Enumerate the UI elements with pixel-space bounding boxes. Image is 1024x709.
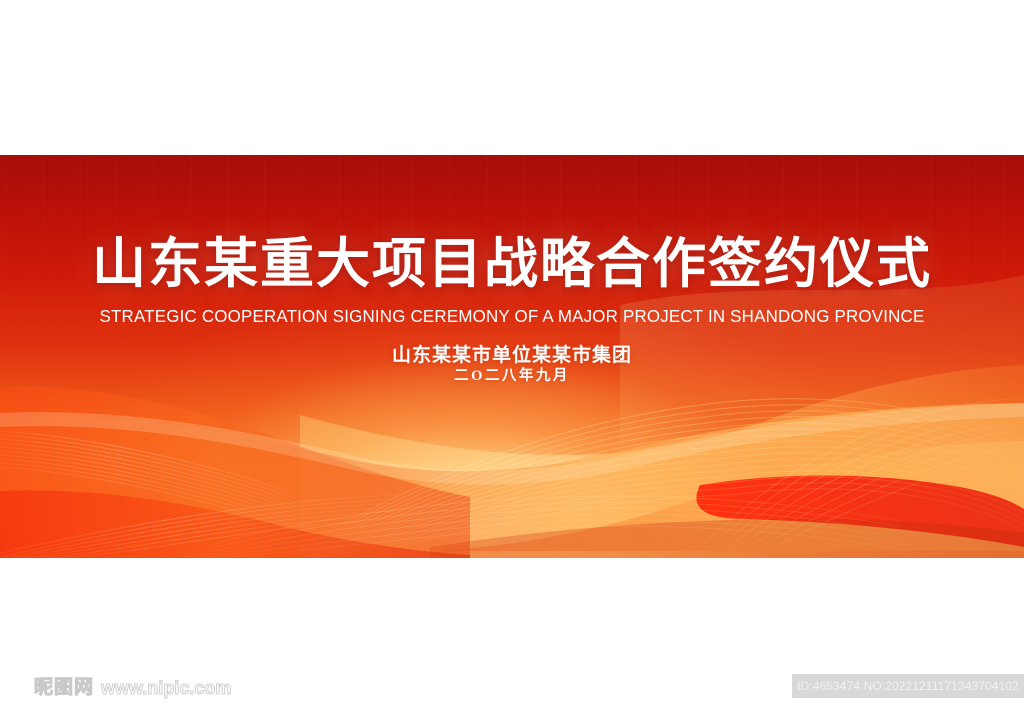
image-id-text: ID:4653474 NO:20221211171343704102 [797,679,1019,693]
wave-artwork [0,155,1024,558]
image-id-badge: ID:4653474 NO:20221211171343704102 [792,674,1024,698]
event-banner: 山东某重大项目战略合作签约仪式 STRATEGIC COOPERATION SI… [0,155,1024,558]
watermark-url: www.nipic.com [101,679,231,697]
page-canvas: 山东某重大项目战略合作签约仪式 STRATEGIC COOPERATION SI… [0,0,1024,709]
site-watermark: 昵图网 www.nipic.com [34,678,231,697]
nipic-logo-text: 昵图网 [34,678,94,697]
